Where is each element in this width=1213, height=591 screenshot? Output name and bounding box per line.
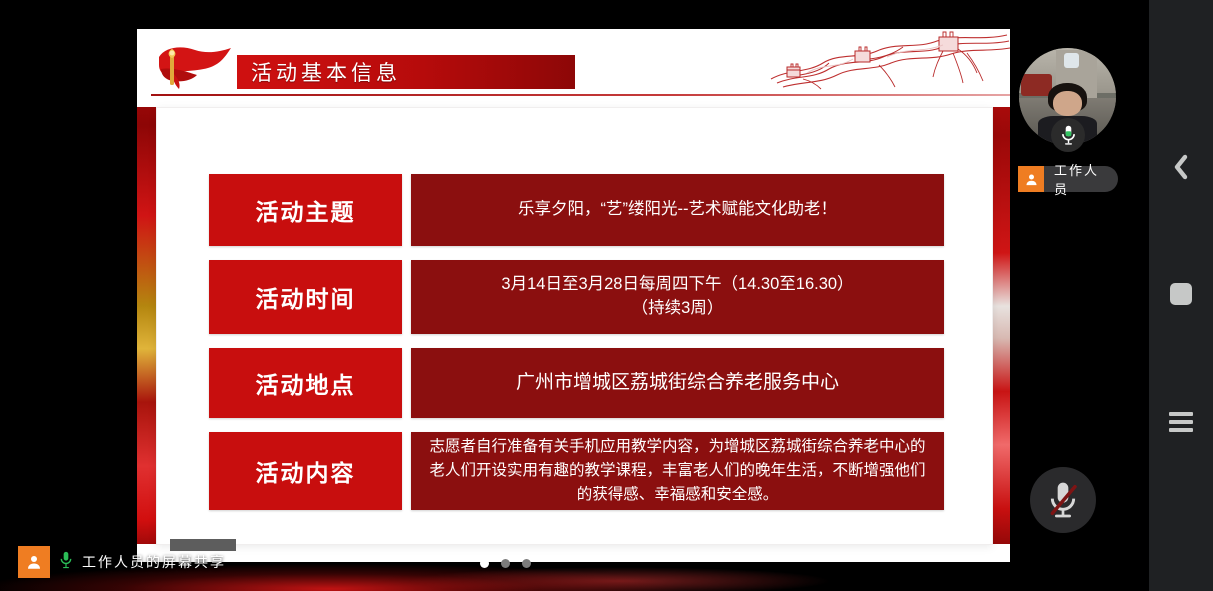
stop-square-icon (1170, 283, 1192, 305)
rail-toolbar (1149, 0, 1213, 591)
slide-title-bar: 活动基本信息 (237, 55, 575, 89)
slide-header: 活动基本信息 (137, 29, 1010, 99)
screen-share-banner: 工作人员的屏幕共享 (18, 546, 226, 578)
row-label: 活动内容 (209, 432, 402, 510)
row-value: 志愿者自行准备有关手机应用教学内容，为增城区荔城街综合养老中心的老人们开设实用有… (411, 432, 944, 510)
slide-header-divider (151, 94, 1010, 96)
person-icon (1018, 166, 1044, 192)
collapse-panel-button[interactable] (1149, 145, 1213, 189)
red-flag-torch-emblem-icon (151, 43, 239, 91)
mute-microphone-button[interactable] (1030, 467, 1096, 533)
row-label: 活动主题 (209, 174, 402, 246)
microphone-active-icon (1051, 118, 1085, 152)
page-dot-3[interactable] (522, 559, 531, 568)
page-dot-2[interactable] (501, 559, 510, 568)
table-row: 活动时间 3月14日至3月28日每周四下午（14.30至16.30） （持续3周… (209, 260, 944, 334)
row-label: 活动地点 (209, 348, 402, 418)
row-value: 3月14日至3月28日每周四下午（14.30至16.30） （持续3周） (411, 260, 944, 334)
row-value: 广州市增城区荔城街综合养老服务中心 (411, 348, 944, 418)
info-rows: 活动主题 乐享夕阳，“艺”缕阳光--艺术赋能文化助老！ 活动时间 3月14日至3… (209, 174, 944, 510)
meeting-screen-share-view: 活动基本信息 (0, 0, 1213, 591)
table-row: 活动主题 乐享夕阳，“艺”缕阳光--艺术赋能文化助老！ (209, 174, 944, 246)
participant-name-chip: 工作人员 (1018, 166, 1118, 192)
stop-share-button[interactable] (1149, 272, 1213, 316)
chevron-left-icon (1171, 154, 1191, 180)
hamburger-menu-icon (1169, 412, 1193, 432)
row-label: 活动时间 (209, 260, 402, 334)
slide-content-card: 活动主题 乐享夕阳，“艺”缕阳光--艺术赋能文化助老！ 活动时间 3月14日至3… (157, 108, 992, 544)
row-value: 乐享夕阳，“艺”缕阳光--艺术赋能文化助老！ (411, 174, 944, 246)
table-row: 活动地点 广州市增城区荔城街综合养老服务中心 (209, 348, 944, 418)
slide-title: 活动基本信息 (237, 57, 401, 87)
shared-screen-stage[interactable]: 活动基本信息 (0, 0, 1010, 591)
participant-tile[interactable]: 工作人员 (1018, 48, 1118, 214)
microphone-icon (59, 551, 73, 574)
person-icon (18, 546, 50, 578)
menu-button[interactable] (1149, 400, 1213, 444)
microphone-muted-icon (1046, 480, 1080, 520)
presentation-slide: 活动基本信息 (137, 29, 1010, 562)
participant-name: 工作人员 (1044, 166, 1118, 192)
table-row: 活动内容 志愿者自行准备有关手机应用教学内容，为增城区荔城街综合养老中心的老人们… (209, 432, 944, 510)
page-dot-1[interactable] (480, 559, 489, 568)
great-wall-illustration-icon (767, 29, 1010, 93)
share-banner-label: 工作人员的屏幕共享 (82, 552, 226, 572)
